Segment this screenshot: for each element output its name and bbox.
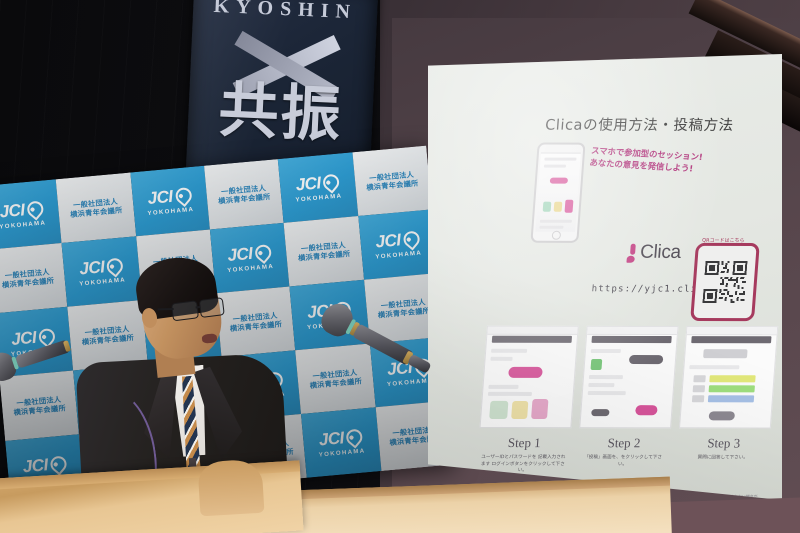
screen-glare [428,54,782,500]
photo-scene: 年度運営テーマ KYOSHIN 共振 CREATE MOVEMENT JCIYO… [0,0,800,533]
glasses-arm [158,308,174,310]
projection-screen: Clicaの使用方法・投稿方法 [428,54,782,500]
podium-rounded-edge [197,459,264,517]
lens-left [171,300,199,321]
lens-right [199,297,225,318]
banner-kanji-title: 共振 [187,78,374,148]
